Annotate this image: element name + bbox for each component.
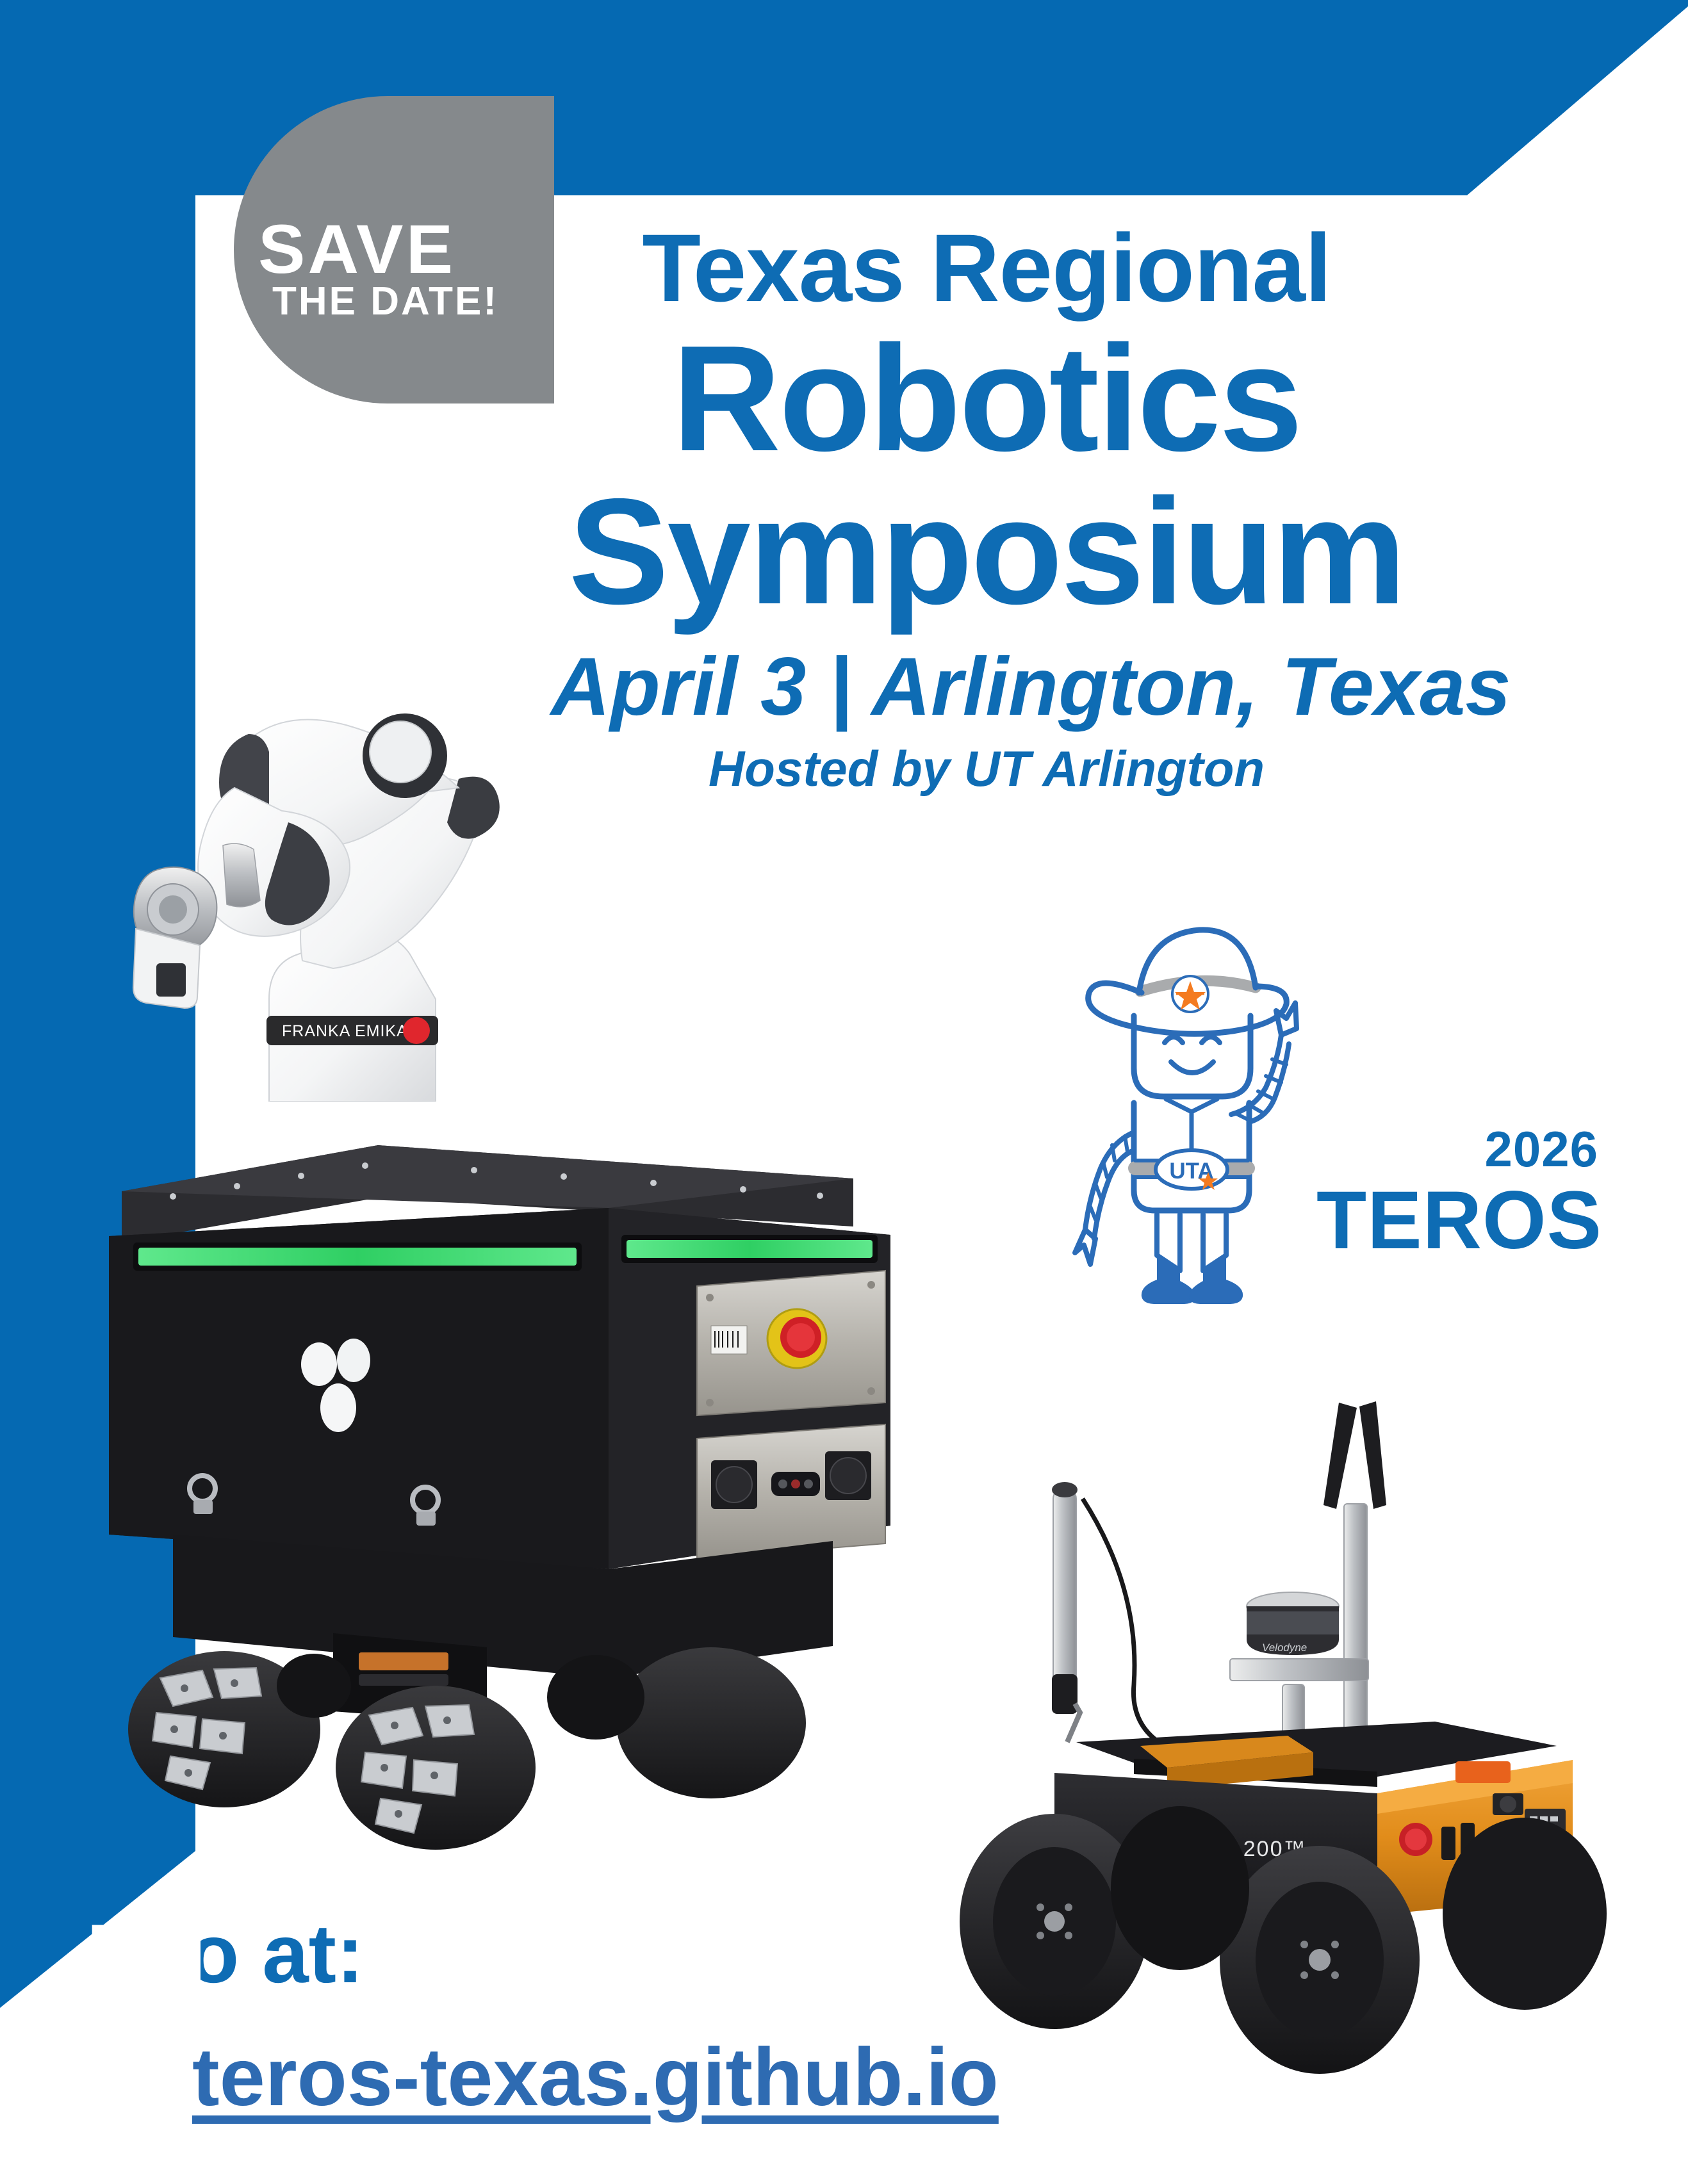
svg-text:Velodyne: Velodyne [1262, 1642, 1307, 1654]
page-title-line2: Symposium [551, 475, 1422, 628]
save-the-date-badge: SAVE THE DATE! [234, 96, 554, 403]
robot-arm-image: FRANKA EMIKA [77, 487, 551, 1102]
poster-canvas: SAVE THE DATE! Texas Regional Robotics S… [0, 0, 1688, 2184]
event-host: Hosted by UT Arlington [551, 739, 1422, 799]
husky-ugv-image: Velodyne HUSKY A200™ [929, 1383, 1640, 2101]
save-the-date-badge-inner: SAVE THE DATE! [234, 96, 554, 403]
page-title-line1: Robotics [551, 322, 1422, 475]
page-eyebrow: Texas Regional [551, 218, 1422, 319]
teros-wordmark: 2026 TEROS [1316, 1124, 1598, 1264]
event-date-location: April 3 | Arlington, Texas [551, 640, 1422, 734]
teros-year: 2026 [1316, 1124, 1598, 1174]
info-url-link[interactable]: teros-texas.github.io [192, 2037, 999, 2119]
badge-save-text: SAVE [258, 215, 539, 284]
mobile-base-image: ✳Robotnik [77, 1082, 929, 1864]
badge-the-date-text: THE DATE! [272, 282, 541, 322]
headline-block: Texas Regional Robotics Symposium April … [551, 218, 1422, 799]
svg-text:FRANKA EMIKA: FRANKA EMIKA [282, 1022, 408, 1040]
teros-acronym: TEROS [1316, 1178, 1598, 1264]
info-at-label: Info at: [86, 1912, 364, 1995]
